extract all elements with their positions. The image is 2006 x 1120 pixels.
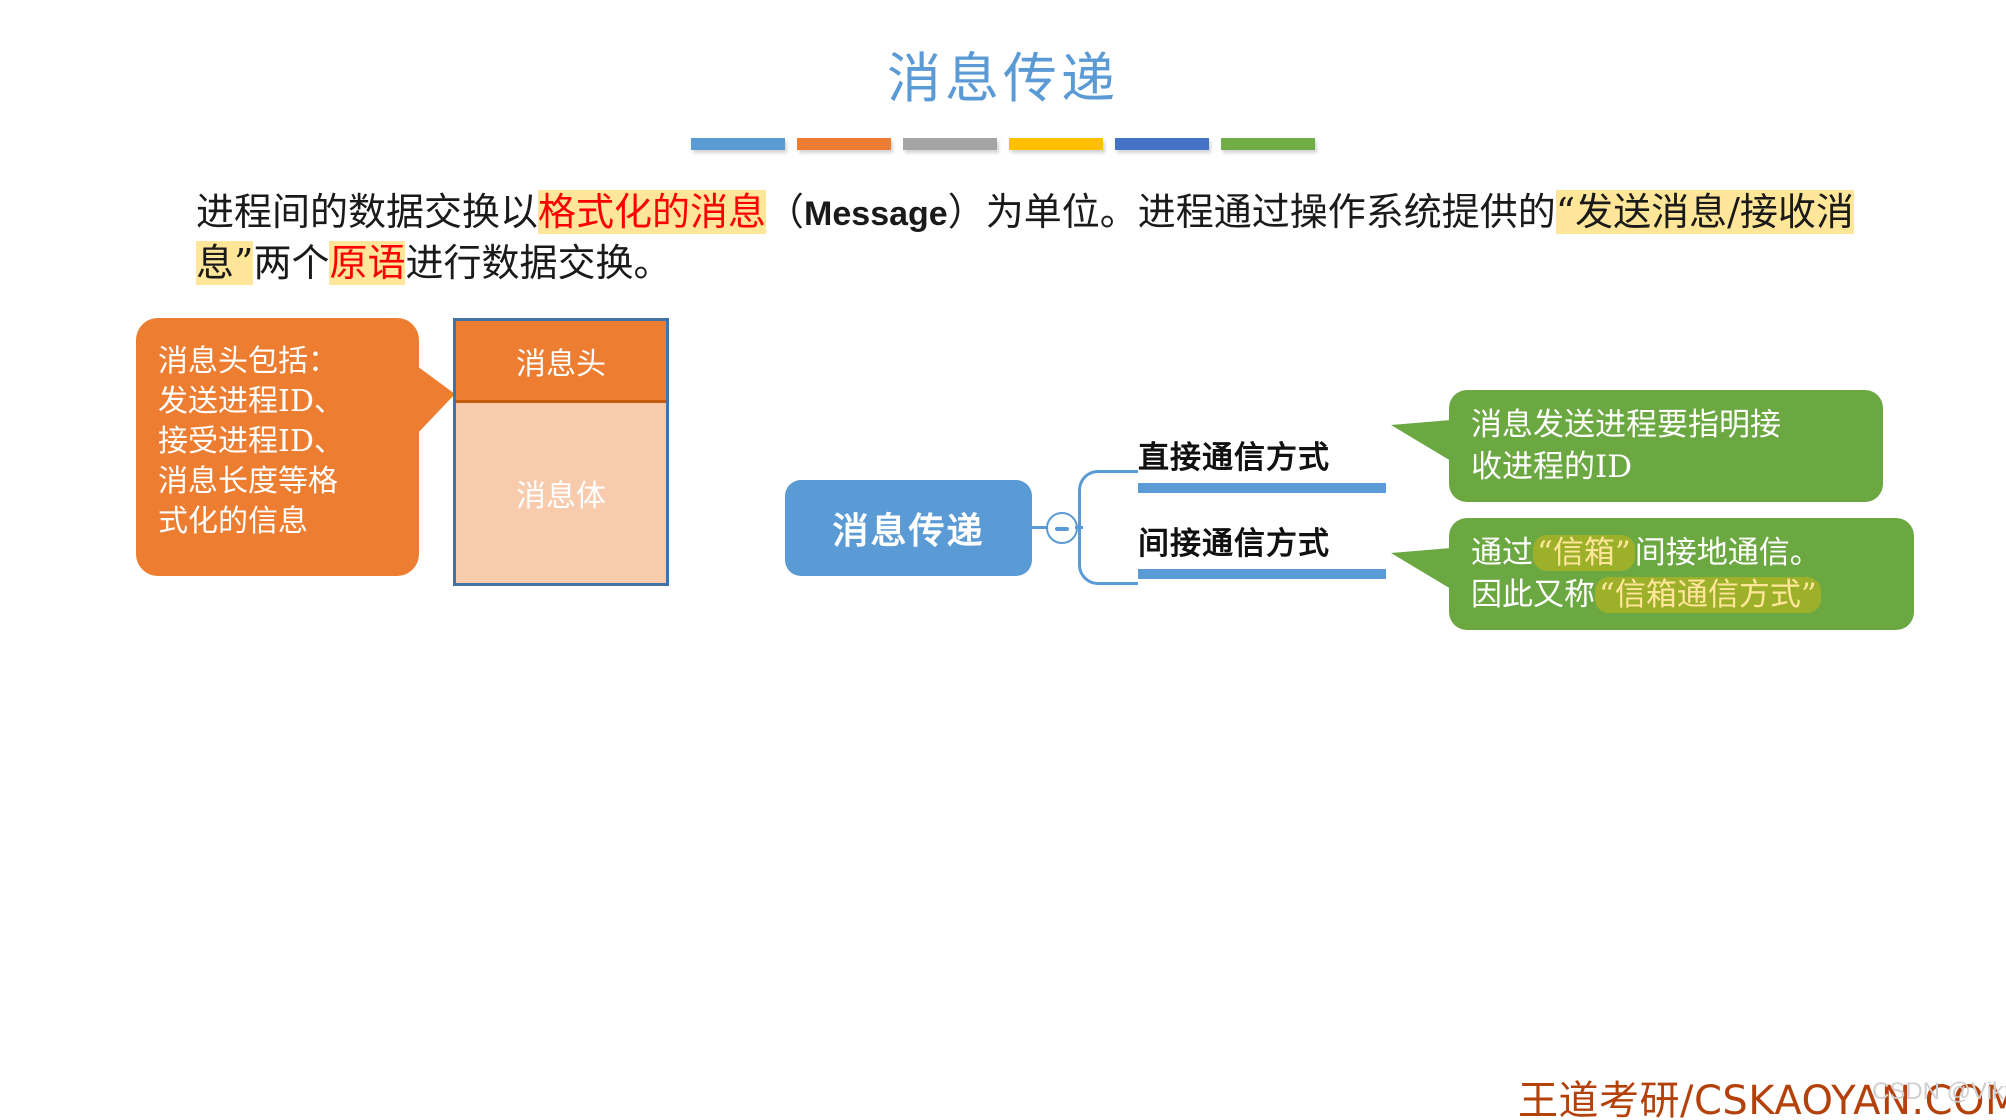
rule-bar-gray xyxy=(903,138,997,150)
green2-l1-p3: 间接地通信。 xyxy=(1635,535,1821,571)
mindmap-branch-direct[interactable]: 直接通信方式 xyxy=(1138,432,1386,493)
green2-l1-p1: 通过 xyxy=(1471,535,1533,571)
mindmap-branch-indirect[interactable]: 间接通信方式 xyxy=(1138,518,1386,579)
green2-l2-p1: 因此又称 xyxy=(1471,577,1595,613)
para-seg-1: 进程间的数据交换以 xyxy=(196,190,538,234)
direct-communication-callout: 消息发送进程要指明接 收进程的ID xyxy=(1449,390,1883,502)
mindmap-root-node[interactable]: 消息传递 xyxy=(785,480,1032,576)
green2-line-2: 因此又称“信箱通信方式” xyxy=(1471,574,1894,616)
title-rule-bars xyxy=(0,138,2006,150)
green2-line-1: 通过“信箱”间接地通信。 xyxy=(1471,532,1894,574)
green1-line-2: 收进程的ID xyxy=(1471,446,1863,488)
para-seg-3: （ xyxy=(766,190,804,234)
mindmap-branch-bracket xyxy=(1078,470,1138,585)
green2-l1-highlight-mailbox: “信箱” xyxy=(1533,535,1635,571)
body-paragraph: 进程间的数据交换以格式化的消息（Message）为单位。进程通过操作系统提供的“… xyxy=(196,188,1866,288)
message-body-cell: 消息体 xyxy=(456,403,666,583)
mindmap-branch-underline-indirect xyxy=(1138,569,1386,579)
mindmap-branch-underline-direct xyxy=(1138,483,1386,493)
rule-bar-green xyxy=(1221,138,1315,150)
orange-callout-line-3: 接受进程ID、 xyxy=(158,422,419,462)
rule-bar-blue xyxy=(691,138,785,150)
callout-tail-right xyxy=(417,366,455,434)
minus-icon-glyph xyxy=(1055,527,1069,531)
para-highlight-formatted-message: 格式化的消息 xyxy=(538,190,766,234)
page-title: 消息传递 xyxy=(0,48,2006,110)
mindmap-branch-label-direct: 直接通信方式 xyxy=(1138,432,1386,477)
rule-bar-orange xyxy=(797,138,891,150)
orange-callout-line-1: 消息头包括： xyxy=(158,342,419,382)
message-header-callout: 消息头包括： 发送进程ID、 接受进程ID、 消息长度等格 式化的信息 xyxy=(136,318,419,576)
green2-l2-highlight-mailbox-mode: “信箱通信方式” xyxy=(1595,577,1821,613)
slide-canvas: 消息传递 进程间的数据交换以格式化的消息（Message）为单位。进程通过操作系… xyxy=(0,0,2006,1120)
message-structure-box: 消息头 消息体 xyxy=(453,318,669,586)
mindmap-branch-label-indirect: 间接通信方式 xyxy=(1138,518,1386,563)
orange-callout-line-5: 式化的信息 xyxy=(158,502,419,542)
rule-bar-navy xyxy=(1115,138,1209,150)
message-header-cell: 消息头 xyxy=(456,321,666,403)
rule-bar-yellow xyxy=(1009,138,1103,150)
callout-tail-left-2 xyxy=(1391,548,1451,589)
green1-line-1: 消息发送进程要指明接 xyxy=(1471,404,1863,446)
para-seg-5: ）为单位。进程通过操作系统提供的 xyxy=(948,190,1556,234)
orange-callout-line-4: 消息长度等格 xyxy=(158,462,419,502)
para-seg-9: 进行数据交换。 xyxy=(405,241,671,285)
orange-callout-line-2: 发送进程ID、 xyxy=(158,382,419,422)
para-seg-7: 两个 xyxy=(253,241,329,285)
para-latin-message: Message xyxy=(804,195,948,233)
indirect-communication-callout: 通过“信箱”间接地通信。 因此又称“信箱通信方式” xyxy=(1449,518,1914,630)
callout-tail-left-1 xyxy=(1391,420,1451,461)
csdn-watermark: CSDN @Viktoriae xyxy=(1872,1078,2006,1106)
para-highlight-primitive: 原语 xyxy=(329,241,405,285)
minus-icon[interactable] xyxy=(1046,512,1078,544)
